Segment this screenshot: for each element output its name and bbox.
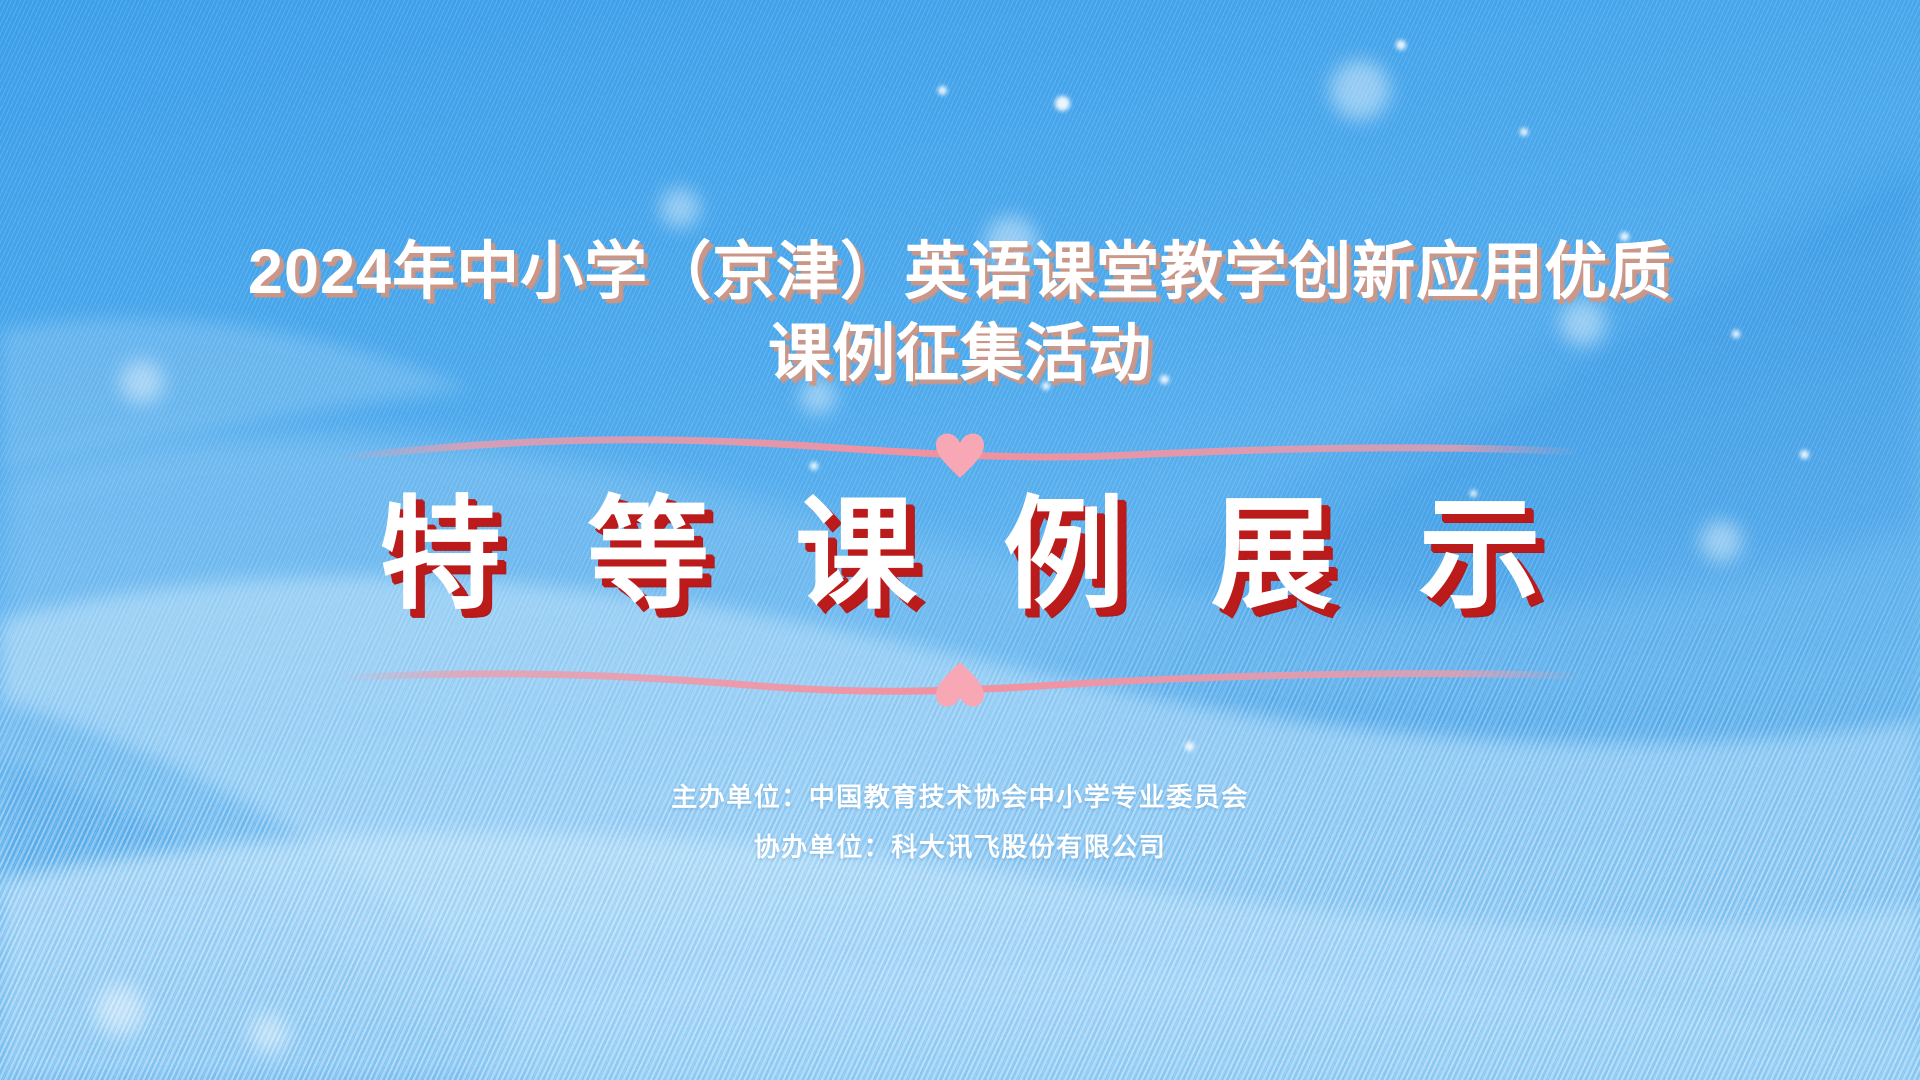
heart-icon (936, 662, 984, 707)
top-divider (340, 422, 1580, 484)
organizers-block: 主办单位：中国教育技术协会中小学专业委员会 协办单位：科大讯飞股份有限公司 (671, 772, 1249, 873)
bottom-divider (340, 648, 1580, 710)
poster-canvas: 2024年中小学（京津）英语课堂教学创新应用优质 课例征集活动 (0, 0, 1920, 1080)
organizer-line-coorganizer: 协办单位：科大讯飞股份有限公司 (671, 822, 1249, 873)
main-title: 特 等 课 例 展 示 (353, 490, 1566, 622)
heart-icon (936, 433, 984, 478)
event-title: 2024年中小学（京津）英语课堂教学创新应用优质 课例征集活动 (120, 232, 1800, 396)
organizer-line-host: 主办单位：中国教育技术协会中小学专业委员会 (671, 772, 1249, 823)
